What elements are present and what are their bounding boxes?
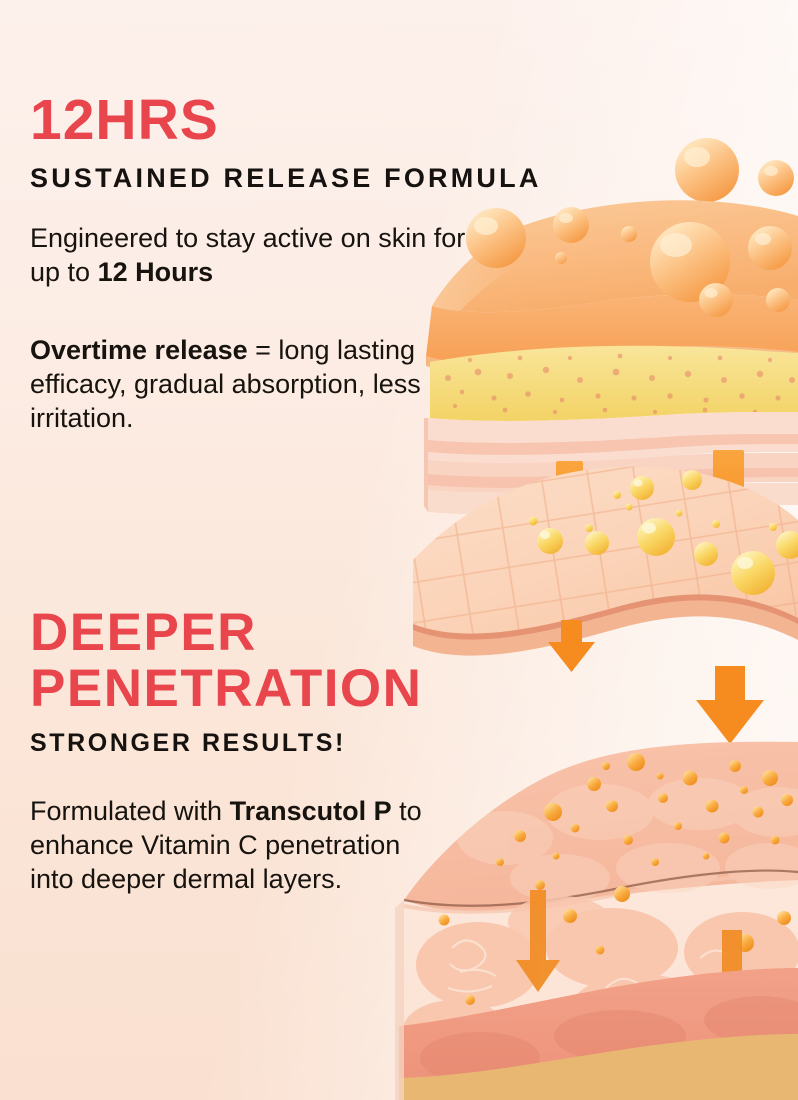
section-one-claim-block: Overtime release = long lasting efficacy… — [30, 334, 460, 435]
headline-deeper-penetration: DEEPERPENETRATION — [30, 605, 590, 717]
droplets-on-mesh-sheet — [529, 470, 798, 595]
droplets-in-epidermis — [496, 753, 793, 866]
droplets-in-dermis — [439, 880, 792, 1022]
dermal-penetration-arrow-right — [706, 0, 798, 1028]
skin-surface-front-face — [426, 294, 798, 363]
body-strong-transcutol: Transcutol P — [230, 796, 392, 826]
body-strong-12-hours: 12 Hours — [98, 257, 214, 287]
dermis-body — [399, 742, 798, 1100]
dermal-cell-cluster — [403, 896, 798, 1060]
epidermis-cell-texture — [457, 778, 798, 902]
claim-overtime-release: Overtime release = long lasting efficacy… — [30, 334, 460, 435]
hypodermis-lobules — [420, 996, 798, 1084]
droplets-on-surface — [466, 207, 792, 317]
hypodermis-band — [399, 968, 798, 1100]
headline-12hrs: 12HRS — [30, 92, 630, 149]
body-engineered-text: Engineered to stay active on skin for up… — [30, 222, 500, 290]
lipid-speckles — [445, 354, 795, 415]
active-ingredient-bar — [713, 450, 744, 560]
body-transcutol-text: Formulated with Transcutol P to enhance … — [30, 795, 430, 896]
subcutaneous-strip — [399, 1034, 798, 1100]
downward-penetration-arrow-large — [696, 666, 764, 744]
headline-line-1: DEEPER — [30, 603, 257, 662]
section-two-heading-block: DEEPERPENETRATION STRONGER RESULTS! — [30, 605, 590, 756]
floating-droplets-top — [675, 138, 794, 202]
dermal-penetration-arrow-left — [516, 890, 560, 992]
headline-line-2: PENETRATION — [30, 659, 422, 718]
subhead-stronger-results: STRONGER RESULTS! — [30, 731, 590, 756]
active-ingredient-bar — [556, 461, 583, 553]
section-two-body-block: Formulated with Transcutol P to enhance … — [30, 795, 430, 896]
body-lead-text: Engineered to stay active on skin for up… — [30, 223, 465, 287]
section-one-heading-block: 12HRS SUSTAINED RELEASE FORMULA — [30, 92, 630, 192]
speckled-lipid-layer — [430, 346, 798, 421]
infographic-poster: 12HRS SUSTAINED RELEASE FORMULA Engineer… — [0, 0, 798, 1100]
epidermis-cap — [404, 742, 798, 912]
claim-strong-text: Overtime release — [30, 335, 248, 365]
body-two-lead-text: Formulated with — [30, 796, 230, 826]
section-one-body-block: Engineered to stay active on skin for up… — [30, 222, 500, 290]
subhead-sustained-release: SUSTAINED RELEASE FORMULA — [30, 165, 630, 192]
dermis-striped-bands — [424, 412, 798, 515]
top-skin-slab-group — [424, 138, 798, 515]
